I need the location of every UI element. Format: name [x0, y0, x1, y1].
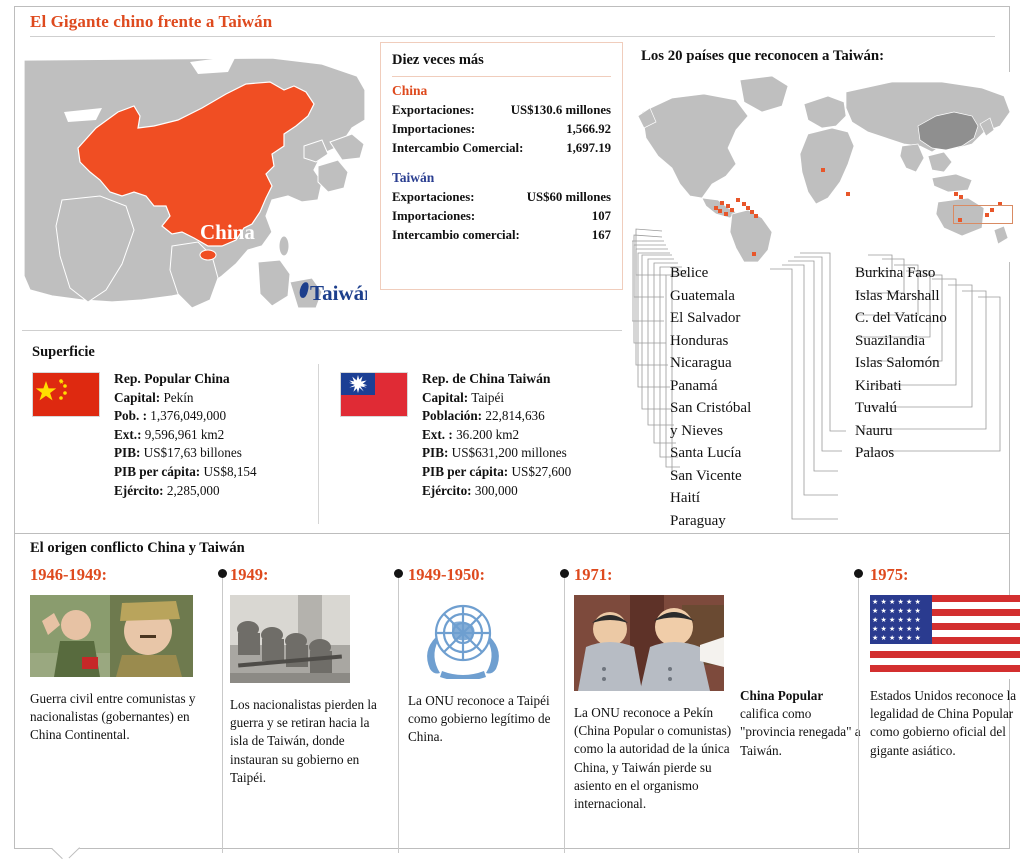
page-title: El Gigante chino frente a Taiwán: [30, 12, 272, 32]
stat-population: Población: 22,814,636: [422, 407, 571, 426]
soldiers-in-trench-photo: [230, 595, 350, 683]
list-item: Nicaragua: [670, 352, 751, 375]
trade-box-divider: [392, 76, 611, 77]
stat-value: 1,376,049,000: [150, 408, 226, 423]
trade-heading-china: China: [392, 83, 611, 99]
stat-label: Ejército:: [422, 483, 472, 498]
value: US$60 millones: [527, 188, 611, 207]
timeline-text: La ONU reconoce a Pekín (China Popular o…: [574, 704, 734, 813]
timeline-connector-3: [398, 578, 399, 853]
country-name: Rep. de China Taiwán: [422, 370, 571, 389]
note-rest-text: califica como "provincia renegada" a Tai…: [740, 706, 861, 757]
list-item: Burkina Faso: [855, 262, 947, 285]
trade-comparison-box: Diez veces más China Exportaciones: US$1…: [380, 42, 623, 290]
recognizers-list-right: Burkina Faso Islas Marshall C. del Vatic…: [855, 262, 947, 465]
timeline-heading: El origen conflicto China y Taiwán: [30, 540, 245, 557]
stat-label: Ejército:: [114, 483, 164, 498]
list-item: Islas Salomón: [855, 352, 947, 375]
timeline-year: 1971:: [574, 565, 734, 585]
stat-label: PIB:: [114, 445, 140, 460]
trade-row-taiwan-imports: Importaciones: 107: [392, 207, 611, 226]
stat-value: US$8,154: [204, 464, 257, 479]
country-card-china: Rep. Popular China Capital: Pekín Pob. :…: [32, 370, 257, 500]
stat-extension: Ext. : 36.200 km2: [422, 426, 571, 445]
timeline-note-china-popular: China Popular califica como "provincia r…: [740, 687, 865, 760]
list-item: Guatemala: [670, 285, 751, 308]
trade-box-title: Diez veces más: [392, 52, 611, 69]
stat-capital: Capital: Pekín: [114, 389, 257, 408]
timeline-year: 1946-1949:: [30, 565, 205, 585]
timeline: 1946-1949: Guerra civil entre comunistas…: [22, 565, 1002, 853]
label: Intercambio Comercial:: [392, 139, 523, 158]
asia-map-svg: [22, 50, 367, 312]
mao-and-chiang-kai-shek-photo: [30, 595, 193, 677]
trade-heading-taiwan: Taiwán: [392, 170, 611, 186]
world-map-svg: [632, 72, 1014, 262]
title-divider: [30, 36, 995, 37]
stat-value: 22,814,636: [485, 408, 544, 423]
svg-text:★ ★ ★ ★ ★ ★: ★ ★ ★ ★ ★ ★: [872, 625, 921, 633]
stat-value: Pekín: [163, 390, 193, 405]
infographic-page: El Gigante chino frente a Taiwán: [0, 0, 1024, 863]
timeline-event-5: 1975: ★ ★ ★ ★ ★ ★ ★ ★ ★ ★ ★ ★ ★ ★ ★ ★ ★ …: [870, 565, 1020, 760]
list-item: San Cristóbal: [670, 397, 751, 420]
list-item: Haití: [670, 487, 751, 510]
timeline-year: 1949-1950:: [408, 565, 558, 585]
label: Exportaciones:: [392, 101, 474, 120]
timeline-text: La ONU reconoce a Taipéi como gobierno l…: [408, 692, 558, 747]
stat-value: 300,000: [475, 483, 518, 498]
superficie-heading: Superficie: [32, 344, 95, 361]
svg-text:★ ★ ★ ★ ★ ★: ★ ★ ★ ★ ★ ★: [872, 598, 921, 606]
timeline-event-3: 1949-1950: La ONU reconoce a Taipéi como…: [408, 565, 558, 747]
timeline-dot-5: [854, 569, 863, 578]
zhou-enlai-and-mao-photo: [574, 595, 724, 691]
stat-label: Ext. :: [422, 427, 453, 442]
world-map: [632, 72, 1014, 262]
label: Exportaciones:: [392, 188, 474, 207]
stat-value: US$631,200 millones: [452, 445, 567, 460]
timeline-dot-4: [560, 569, 569, 578]
trade-row-china-total: Intercambio Comercial: 1,697.19: [392, 139, 611, 158]
timeline-connector-4: [564, 578, 565, 853]
label: Intercambio comercial:: [392, 226, 520, 245]
value: 107: [592, 207, 611, 226]
frame-top-line: [14, 6, 1010, 7]
recognizers-list-left: Belice Guatemala El Salvador Honduras Ni…: [670, 262, 751, 532]
stat-value: 36.200 km2: [456, 427, 519, 442]
value: 1,566.92: [566, 120, 611, 139]
list-item: Islas Marshall: [855, 285, 947, 308]
label: Importaciones:: [392, 207, 475, 226]
list-item: C. del Vaticano: [855, 307, 947, 330]
list-item: Santa Lucía: [670, 442, 751, 465]
stat-label: PIB per cápita:: [114, 464, 200, 479]
map-label-taiwan: Taiwán: [310, 281, 367, 306]
stat-label: Pob. :: [114, 408, 147, 423]
stat-army: Ejército: 2,285,000: [114, 482, 257, 501]
list-item: Kiribati: [855, 375, 947, 398]
list-item: Tuvalú: [855, 397, 947, 420]
timeline-dot-2: [218, 569, 227, 578]
stat-value: 2,285,000: [167, 483, 220, 498]
trade-row-china-imports: Importaciones: 1,566.92: [392, 120, 611, 139]
list-item: y Nieves: [670, 420, 751, 443]
stat-gdp-per-capita: PIB per cápita: US$27,600: [422, 463, 571, 482]
list-item: Honduras: [670, 330, 751, 353]
country-card-taiwan: Rep. de China Taiwán Capital: Taipéi Pob…: [340, 370, 571, 500]
stat-value: 9,596,961 km2: [145, 427, 225, 442]
svg-text:★ ★ ★ ★ ★ ★: ★ ★ ★ ★ ★ ★: [872, 634, 921, 642]
united-nations-emblem: [408, 595, 518, 679]
timeline-event-2: 1949: Los nacionalistas pierden la guerr…: [230, 565, 385, 787]
stat-label: Población:: [422, 408, 482, 423]
country-name: Rep. Popular China: [114, 370, 257, 389]
timeline-connector-2: [222, 578, 223, 853]
label: Importaciones:: [392, 120, 475, 139]
timeline-dot-3: [394, 569, 403, 578]
value: 167: [592, 226, 611, 245]
timeline-year: 1949:: [230, 565, 385, 585]
timeline-text: Estados Unidos reconoce la legalidad de …: [870, 687, 1020, 760]
stat-label: Capital:: [422, 390, 468, 405]
stat-gdp: PIB: US$17,63 billones: [114, 444, 257, 463]
list-item: Belice: [670, 262, 751, 285]
recognizers-heading: Los 20 países que reconocen a Taiwán:: [641, 48, 884, 65]
value: 1,697.19: [566, 139, 611, 158]
timeline-event-1: 1946-1949: Guerra civil entre comunistas…: [30, 565, 205, 745]
list-item: Palaos: [855, 442, 947, 465]
united-states-flag: ★ ★ ★ ★ ★ ★ ★ ★ ★ ★ ★ ★ ★ ★ ★ ★ ★ ★ ★ ★ …: [870, 595, 1020, 679]
stat-label: PIB:: [422, 445, 448, 460]
stat-value: Taipéi: [471, 390, 504, 405]
timeline-text: Los nacionalistas pierden la guerra y se…: [230, 696, 385, 787]
stat-gdp-per-capita: PIB per cápita: US$8,154: [114, 463, 257, 482]
stat-label: PIB per cápita:: [422, 464, 508, 479]
timeline-year: 1975:: [870, 565, 1020, 585]
stat-value: US$27,600: [512, 464, 572, 479]
trade-row-taiwan-total: Intercambio comercial: 167: [392, 226, 611, 245]
china-flag-icon: [32, 372, 100, 417]
list-item: Panamá: [670, 375, 751, 398]
svg-text:★ ★ ★ ★ ★ ★: ★ ★ ★ ★ ★ ★: [872, 607, 921, 615]
list-item: Nauru: [855, 420, 947, 443]
stat-label: Capital:: [114, 390, 160, 405]
list-item: Suazilandia: [855, 330, 947, 353]
stat-gdp: PIB: US$631,200 millones: [422, 444, 571, 463]
svg-text:★ ★ ★ ★ ★ ★: ★ ★ ★ ★ ★ ★: [872, 616, 921, 624]
stat-capital: Capital: Taipéi: [422, 389, 571, 408]
asia-map: China Taiwán: [22, 50, 367, 312]
value: US$130.6 millones: [511, 101, 611, 120]
taiwan-card-text: Rep. de China Taiwán Capital: Taipéi Pob…: [422, 370, 571, 500]
timeline-connector-5: [858, 578, 859, 853]
trade-row-china-exports: Exportaciones: US$130.6 millones: [392, 101, 611, 120]
taiwan-flag-icon: [340, 372, 408, 417]
note-bold-text: China Popular: [740, 688, 823, 703]
superficie-divider: [22, 330, 622, 331]
stat-label: Ext.:: [114, 427, 141, 442]
timeline-text: Guerra civil entre comunistas y nacional…: [30, 690, 205, 745]
china-card-text: Rep. Popular China Capital: Pekín Pob. :…: [114, 370, 257, 500]
stat-value: US$17,63 billones: [144, 445, 242, 460]
stat-population: Pob. : 1,376,049,000: [114, 407, 257, 426]
list-item: El Salvador: [670, 307, 751, 330]
list-item: San Vicente: [670, 465, 751, 488]
stat-extension: Ext.: 9,596,961 km2: [114, 426, 257, 445]
trade-row-taiwan-exports: Exportaciones: US$60 millones: [392, 188, 611, 207]
timeline-event-4: 1971: La ONU reconoc: [574, 565, 734, 813]
list-item: Paraguay: [670, 510, 751, 533]
pacific-inset-highlight-box: [953, 205, 1013, 224]
map-label-china: China: [200, 220, 255, 245]
superficie-vertical-divider: [318, 364, 319, 524]
stat-army: Ejército: 300,000: [422, 482, 571, 501]
timeline-section-divider: [15, 533, 1009, 534]
